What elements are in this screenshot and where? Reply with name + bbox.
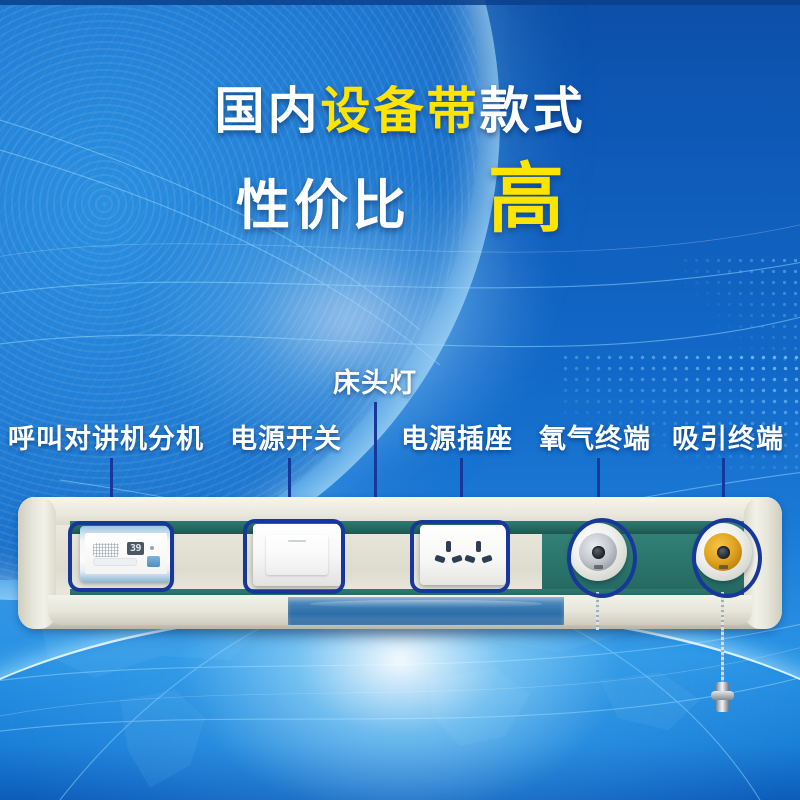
bed-lamp-lens[interactable]	[288, 597, 564, 625]
highlight-ring-power-switch	[243, 519, 345, 594]
subheadline: 性价比 高	[0, 168, 800, 244]
callout-label-intercom: 呼叫对讲机分机	[8, 417, 204, 456]
headline: 国内设备带款式	[0, 86, 800, 136]
callout-label-suction: 吸引终端	[672, 417, 784, 456]
poster-canvas: 国内设备带款式 性价比 高 呼叫对讲机分机 电源开关 床头灯 电源插座 氧气终端…	[0, 0, 800, 800]
halftone-dots-secondary	[680, 255, 800, 365]
subheadline-text: 性价比	[236, 179, 410, 233]
callout-label-oxygen: 氧气终端	[539, 417, 651, 456]
subheadline-accent: 高	[488, 162, 564, 238]
headline-part2: 款式	[480, 83, 586, 139]
headline-part1: 国内	[215, 83, 321, 139]
highlight-ring-suction	[692, 518, 762, 598]
top-edge-bar	[0, 0, 800, 5]
highlight-ring-oxygen	[567, 518, 637, 598]
callout-label-power-socket: 电源插座	[401, 417, 513, 456]
headline-accent: 设备带	[321, 83, 480, 139]
callout-label-power-switch: 电源开关	[230, 417, 342, 456]
callout-label-bed-lamp: 床头灯	[333, 361, 417, 400]
pull-chain-grip[interactable]	[716, 682, 729, 712]
highlight-ring-intercom	[68, 521, 174, 592]
highlight-ring-power-socket	[410, 520, 510, 593]
